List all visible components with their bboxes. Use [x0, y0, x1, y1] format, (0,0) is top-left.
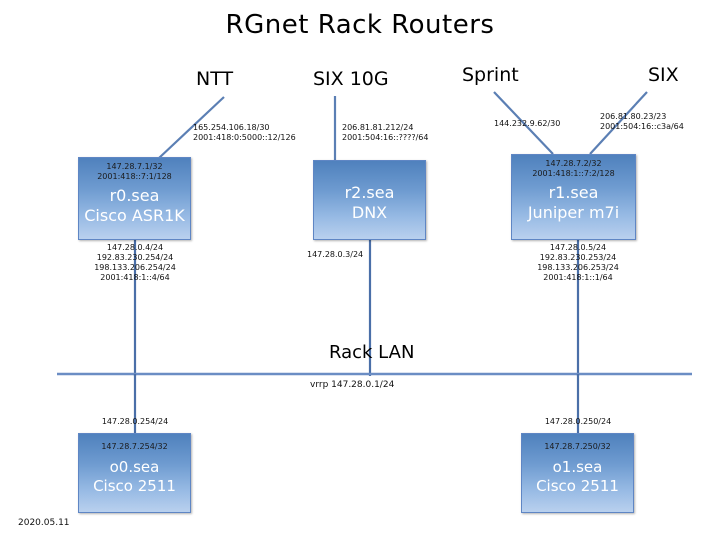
- r1-lan-ip-4: 2001:418:1::1/64: [478, 273, 678, 283]
- console-node-o0-sea[interactable]: 147.28.7.254/32 o0.sea Cisco 2511: [78, 433, 191, 513]
- router-node-r1-sea[interactable]: 147.28.7.2/32 2001:418:1::7:2/128 r1.sea…: [511, 154, 636, 240]
- r0-hostname: r0.sea: [79, 186, 190, 206]
- o1-loopback-v4: 147.28.7.250/32: [522, 442, 633, 452]
- uplink-ip-ntt: 165.254.106.18/30 2001:418:0:5000::12/12…: [193, 123, 296, 143]
- lan-ip-list-r2: 147.28.0.3/24: [307, 250, 363, 260]
- vrrp-label: vrrp 147.28.0.1/24: [310, 380, 394, 390]
- uplink-ip-ntt-v6: 2001:418:0:5000::12/126: [193, 133, 296, 143]
- r1-lan-ip-3: 198.133.206.253/24: [478, 263, 678, 273]
- o0-model: Cisco 2511: [79, 477, 190, 496]
- rack-lan-label: Rack LAN: [329, 342, 414, 363]
- peer-label-ntt: NTT: [196, 68, 233, 90]
- r2-hostname: r2.sea: [314, 183, 425, 203]
- uplink-ip-six10g: 206.81.81.212/24 2001:504:16::????/64: [342, 123, 428, 143]
- r1-loopback-v4: 147.28.7.2/32: [512, 159, 635, 169]
- uplink-ip-six10g-v4: 206.81.81.212/24: [342, 123, 428, 133]
- uplink-ip-sprint: 144.232.9.62/30: [494, 119, 560, 129]
- r1-model: Juniper m7i: [512, 203, 635, 223]
- uplink-ip-six: 206.81.80.23/23 2001:504:16::c3a/64: [600, 112, 684, 132]
- uplink-ip-six-v6: 2001:504:16::c3a/64: [600, 122, 684, 132]
- peer-label-six10g: SIX 10G: [313, 68, 389, 90]
- r0-lan-ip-1: 147.28.0.4/24: [35, 243, 235, 253]
- peer-label-six: SIX: [648, 64, 679, 86]
- o1-lan-ip: 147.28.0.250/24: [498, 417, 658, 427]
- slide-title: RGnet Rack Routers: [0, 10, 720, 40]
- slide-date: 2020.05.11: [18, 518, 70, 528]
- r0-lan-ip-4: 2001:418:1::4/64: [35, 273, 235, 283]
- router-node-r0-sea[interactable]: 147.28.7.1/32 2001:418::7:1/128 r0.sea C…: [78, 157, 191, 240]
- r0-loopback-v6: 2001:418::7:1/128: [79, 172, 190, 182]
- o1-hostname: o1.sea: [522, 458, 633, 477]
- o0-hostname: o0.sea: [79, 458, 190, 477]
- r1-loopback-v6: 2001:418:1::7:2/128: [512, 169, 635, 179]
- lan-ip-list-r1: 147.28.0.5/24 192.83.230.253/24 198.133.…: [478, 243, 678, 283]
- network-diagram-slide: RGnet Rack Routers NTT SIX 10G Sprint SI…: [0, 0, 720, 540]
- router-node-r2-sea[interactable]: r2.sea DNX: [313, 160, 426, 240]
- r1-lan-ip-1: 147.28.0.5/24: [478, 243, 678, 253]
- uplink-ip-sprint-v4: 144.232.9.62/30: [494, 119, 560, 129]
- console-node-o1-sea[interactable]: 147.28.7.250/32 o1.sea Cisco 2511: [521, 433, 634, 513]
- uplink-ip-six10g-v6: 2001:504:16::????/64: [342, 133, 428, 143]
- r2-lan-ip-1: 147.28.0.3/24: [307, 250, 363, 260]
- o0-lan-ip: 147.28.0.254/24: [55, 417, 215, 427]
- o0-loopback-v4: 147.28.7.254/32: [79, 442, 190, 452]
- r0-model: Cisco ASR1K: [79, 206, 190, 226]
- r0-lan-ip-2: 192.83.230.254/24: [35, 253, 235, 263]
- lan-ip-list-r0: 147.28.0.4/24 192.83.230.254/24 198.133.…: [35, 243, 235, 283]
- r2-model: DNX: [314, 203, 425, 223]
- o1-model: Cisco 2511: [522, 477, 633, 496]
- uplink-ip-ntt-v4: 165.254.106.18/30: [193, 123, 296, 133]
- r0-loopback-v4: 147.28.7.1/32: [79, 162, 190, 172]
- r1-hostname: r1.sea: [512, 183, 635, 203]
- peer-label-sprint: Sprint: [462, 64, 519, 86]
- r0-lan-ip-3: 198.133.206.254/24: [35, 263, 235, 273]
- r1-lan-ip-2: 192.83.230.253/24: [478, 253, 678, 263]
- uplink-ip-six-v4: 206.81.80.23/23: [600, 112, 684, 122]
